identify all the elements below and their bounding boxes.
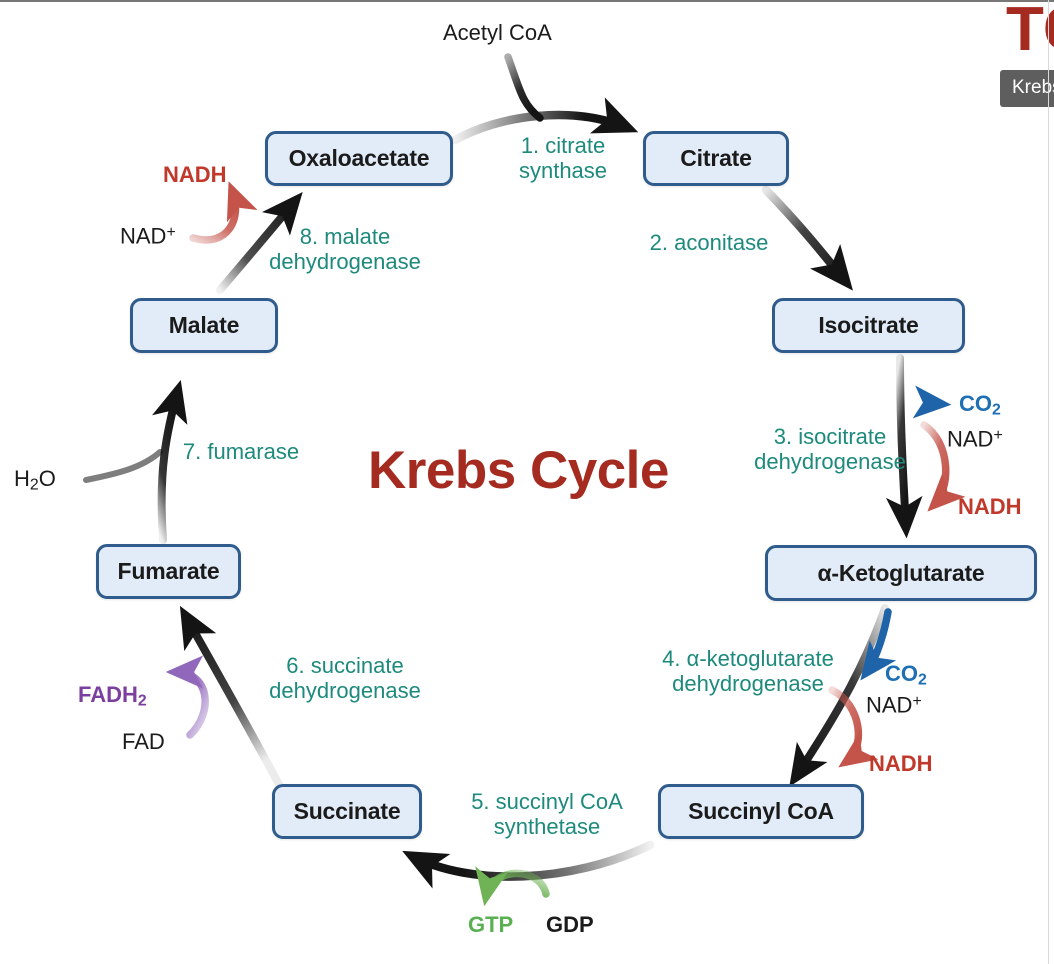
arrow-fumarate-to-malate bbox=[162, 390, 178, 540]
metabolite-node-succinate[interactable]: Succinate bbox=[272, 784, 422, 839]
enzyme-label-step-5: 5. succinyl CoA synthetase bbox=[452, 790, 642, 840]
cofactor-acetyl-coa: Acetyl CoA bbox=[443, 22, 552, 44]
metabolite-node-fumarate[interactable]: Fumarate bbox=[96, 544, 241, 599]
cofactor-nadh-3: NADH bbox=[958, 496, 1022, 518]
page-top-edge bbox=[0, 0, 1054, 2]
arrow-h2o-in bbox=[86, 452, 160, 480]
arrow-succinylcoa-to-succinate bbox=[412, 845, 650, 877]
enzyme-label-step-3: 3. isocitrate dehydrogenase bbox=[730, 425, 930, 475]
cofactor-co2-3: CO2 bbox=[959, 393, 1001, 418]
arrow-acetyl-coa-in bbox=[508, 57, 540, 118]
arrow-nadplus-to-nadh-step4 bbox=[832, 690, 858, 762]
cofactor-h2o-7: H2O bbox=[14, 468, 56, 493]
diagram-title: Krebs Cycle bbox=[368, 440, 669, 501]
cofactor-gtp-5: GTP bbox=[468, 914, 513, 936]
enzyme-label-step-8: 8. malate dehydrogenase bbox=[255, 225, 435, 275]
clipped-page-heading: TC bbox=[1006, 0, 1054, 65]
cofactor-nadh-4: NADH bbox=[869, 753, 933, 775]
cofactor-nadplus-8: NAD+ bbox=[120, 225, 176, 248]
arrow-fad-to-fadh2 bbox=[175, 672, 205, 735]
enzyme-label-step-4: 4. α-ketoglutarate dehydrogenase bbox=[638, 647, 858, 697]
cofactor-gdp-5: GDP bbox=[546, 914, 594, 936]
enzyme-label-step-2: 2. aconitase bbox=[614, 231, 804, 256]
corner-tooltip: Krebs bbox=[1000, 70, 1054, 107]
metabolite-node-ketoglutarate[interactable]: α-Ketoglutarate bbox=[765, 545, 1037, 601]
cofactor-fadh2-6: FADH2 bbox=[78, 684, 147, 709]
metabolite-node-isocitrate[interactable]: Isocitrate bbox=[772, 298, 965, 353]
cofactor-nadplus-4: NAD+ bbox=[866, 694, 922, 717]
metabolite-node-citrate[interactable]: Citrate bbox=[643, 131, 789, 186]
cofactor-nadh-8: NADH bbox=[163, 164, 227, 186]
enzyme-label-step-7: 7. fumarase bbox=[166, 440, 316, 465]
metabolite-node-oxaloacetate[interactable]: Oxaloacetate bbox=[265, 131, 453, 186]
page-right-edge bbox=[1048, 0, 1049, 964]
arrow-gdp-to-gtp bbox=[486, 873, 546, 897]
metabolite-node-succinyl-coa[interactable]: Succinyl CoA bbox=[658, 784, 864, 839]
cofactor-nadplus-3: NAD+ bbox=[947, 428, 1003, 451]
cofactor-co2-4: CO2 bbox=[885, 663, 927, 688]
metabolite-node-malate[interactable]: Malate bbox=[130, 298, 278, 353]
cofactor-fad-6: FAD bbox=[122, 731, 165, 753]
arrow-nadplus-to-nadh-step8 bbox=[193, 190, 236, 240]
krebs-cycle-diagram: Krebs Cycle OxaloacetateCitrateIsocitrat… bbox=[0, 0, 1054, 964]
enzyme-label-step-1: 1. citrate synthase bbox=[498, 134, 628, 184]
enzyme-label-step-6: 6. succinate dehydrogenase bbox=[245, 654, 445, 704]
